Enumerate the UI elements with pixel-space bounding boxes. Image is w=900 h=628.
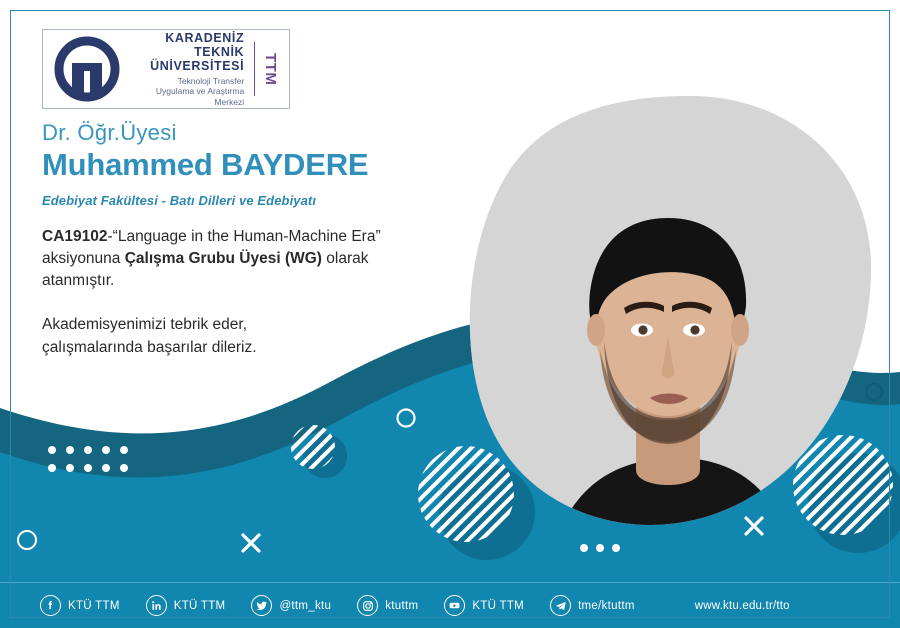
social-footer: KTÜ TTM KTÜ TTM @ttm_ktu ktuttm KTÜ TTM: [0, 582, 900, 628]
twitter-icon[interactable]: [251, 595, 272, 616]
congratulations-block: Akademisyenimizi tebrik eder, çalışmalar…: [42, 314, 402, 360]
telegram-label: tme/ktuttm: [578, 600, 635, 612]
congrats-line-1: Akademisyenimizi tebrik eder,: [42, 314, 402, 337]
logo-ttm-label: TTM: [262, 53, 279, 85]
facebook-icon[interactable]: [40, 595, 61, 616]
logo-line-4: Uygulama ve Araştırma Merkezi: [127, 86, 244, 107]
action-text-2: olarak: [322, 250, 369, 267]
action-code: CA19102: [42, 228, 108, 245]
headline-block: Dr. Öğr.Üyesi Muhammed BAYDERE Edebiyat …: [42, 120, 472, 208]
logo-line-3: Teknoloji Transfer: [127, 76, 244, 87]
twitter-label: @ttm_ktu: [279, 600, 331, 612]
congrats-line-2: çalışmalarında başarılar dileriz.: [42, 337, 402, 360]
social-youtube[interactable]: KTÜ TTM: [444, 595, 524, 616]
linkedin-icon[interactable]: [146, 595, 167, 616]
instagram-label: ktuttm: [385, 600, 418, 612]
social-telegram[interactable]: tme/ktuttm: [550, 595, 635, 616]
department-label: Edebiyat Fakültesi - Batı Dilleri ve Ede…: [42, 193, 472, 208]
body-block: CA19102-“Language in the Human-Machine E…: [42, 226, 442, 292]
action-text-1: aksiyonuna: [42, 250, 125, 267]
facebook-label: KTÜ TTM: [68, 600, 120, 612]
action-role: Çalışma Grubu Üyesi (WG): [125, 250, 322, 267]
social-twitter[interactable]: @ttm_ktu: [251, 595, 331, 616]
logo-line-2: TEKNİK ÜNİVERSİTESİ: [127, 45, 244, 73]
action-paragraph: CA19102-“Language in the Human-Machine E…: [42, 226, 442, 292]
logo-divider: [254, 42, 255, 96]
social-instagram[interactable]: ktuttm: [357, 595, 418, 616]
logo-line-1: KARADENİZ: [127, 31, 244, 45]
ktu-ttm-logo: KARADENİZ TEKNİK ÜNİVERSİTESİ Teknoloji …: [42, 29, 290, 109]
announcement-card: KARADENİZ TEKNİK ÜNİVERSİTESİ Teknoloji …: [0, 0, 900, 628]
ktu-circle-emblem: [47, 33, 127, 105]
linkedin-label: KTÜ TTM: [174, 600, 226, 612]
academic-title: Dr. Öğr.Üyesi: [42, 120, 472, 145]
youtube-icon[interactable]: [444, 595, 465, 616]
social-facebook[interactable]: KTÜ TTM: [40, 595, 120, 616]
action-text-3: atanmıştır.: [42, 272, 114, 289]
person-name: Muhammed BAYDERE: [42, 147, 472, 184]
website-link[interactable]: www.ktu.edu.tr/tto: [695, 600, 790, 612]
dot-trio: [580, 544, 620, 552]
telegram-icon[interactable]: [550, 595, 571, 616]
social-linkedin[interactable]: KTÜ TTM: [146, 595, 226, 616]
action-title: -“Language in the Human-Machine Era”: [108, 228, 381, 245]
youtube-label: KTÜ TTM: [472, 600, 524, 612]
instagram-icon[interactable]: [357, 595, 378, 616]
